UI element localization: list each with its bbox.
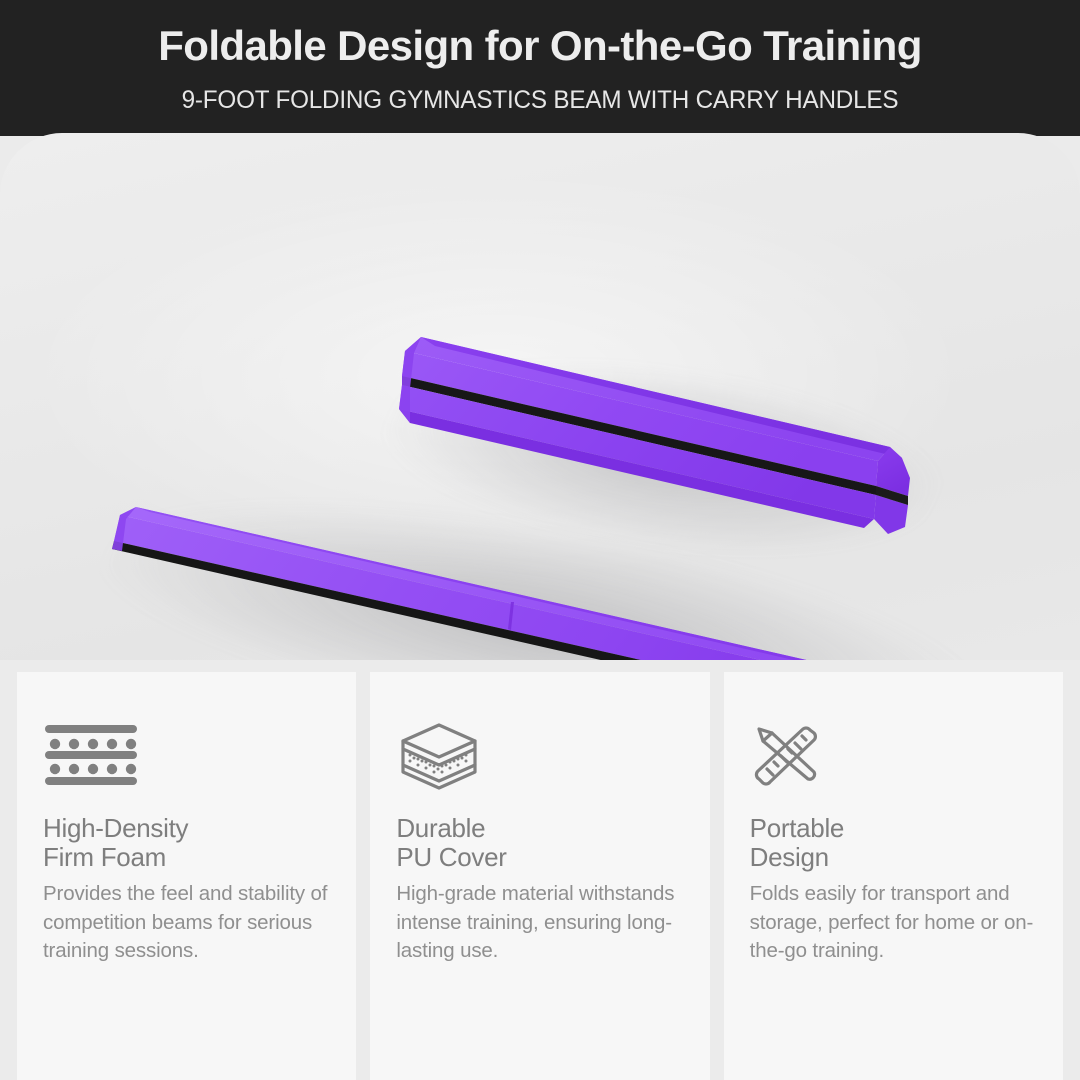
- page-title: Foldable Design for On-the-Go Training: [0, 22, 1080, 70]
- feature-card-high-density-firm-foam: High-Density Firm Foam Provides the feel…: [17, 672, 356, 1080]
- cushion-cover-icon: [396, 718, 482, 792]
- feature-card-title: Durable PU Cover: [396, 814, 683, 872]
- header-banner: Foldable Design for On-the-Go Training 9…: [0, 0, 1080, 136]
- page-subtitle: 9-FOOT FOLDING GYMNASTICS BEAM WITH CARR…: [16, 85, 1064, 115]
- product-photo-stage: [0, 133, 1080, 660]
- feature-card-body: Provides the feel and stability of compe…: [43, 880, 330, 966]
- feature-card-body: Folds easily for transport and storage, …: [750, 880, 1037, 966]
- foam-layers-icon: [43, 718, 139, 792]
- feature-card-portable-design: Portable Design Folds easily for transpo…: [724, 672, 1063, 1080]
- feature-card-body: High-grade material withstands intense t…: [396, 880, 683, 966]
- feature-card-durable-pu-cover: Durable PU Cover High-grade material wit…: [370, 672, 709, 1080]
- hero-product-panel: [0, 133, 1080, 660]
- feature-card-title: Portable Design: [750, 814, 1037, 872]
- feature-cards-row: High-Density Firm Foam Provides the feel…: [0, 660, 1080, 1080]
- unfolded-beam: [100, 495, 980, 660]
- feature-card-title: High-Density Firm Foam: [43, 814, 330, 872]
- pencil-ruler-icon: [750, 718, 820, 792]
